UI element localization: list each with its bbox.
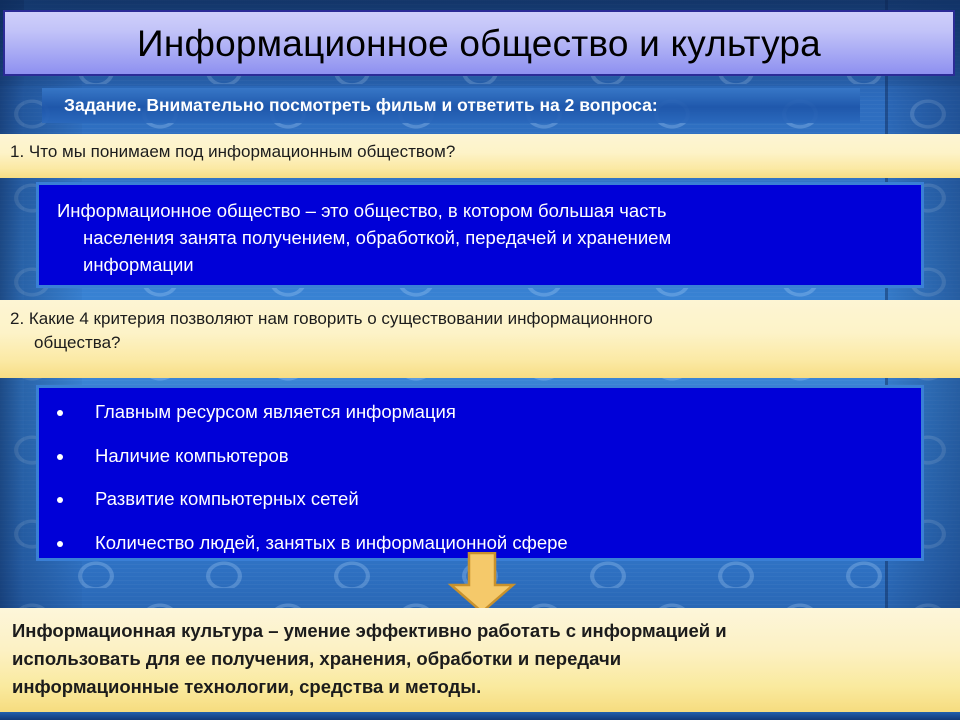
question-2-panel: 2. Какие 4 критерия позволяют нам говори… [0,300,960,378]
question-1-panel: 1. Что мы понимаем под информационным об… [0,134,960,178]
conclusion-panel: Информационная культура – умение эффекти… [0,608,960,712]
conclusion-text: Информационная культура – умение эффекти… [0,608,960,701]
criteria-list: Главным ресурсом является информация Нал… [39,388,921,552]
answer-1-line-2: населения занята получением, обработкой,… [57,224,905,251]
list-item: Наличие компьютеров [39,447,921,466]
question-2-line-1: 2. Какие 4 критерия позволяют нам говори… [10,307,950,331]
question-2-line-2: общества? [10,331,950,355]
answer-1-line-3: информации [57,251,905,278]
slide-title-box: Информационное общество и культура [3,10,955,76]
task-instruction-bar: Задание. Внимательно посмотреть фильм и … [42,88,860,123]
list-item: Количество людей, занятых в информационн… [39,534,921,553]
down-arrow-icon [447,552,517,614]
task-instruction-text: Задание. Внимательно посмотреть фильм и … [64,95,658,116]
conclusion-line-2: использовать для ее получения, хранения,… [12,645,948,673]
presentation-slide: Информационное общество и культура Задан… [0,0,960,720]
conclusion-line-3: информационные технологии, средства и ме… [12,673,948,701]
list-item: Главным ресурсом является информация [39,403,921,422]
answer-1-panel: Информационное общество – это общество, … [36,182,924,288]
answer-1-text: Информационное общество – это общество, … [39,185,921,278]
answer-1-line-1: Информационное общество – это общество, … [57,197,905,224]
conclusion-line-1: Информационная культура – умение эффекти… [12,617,948,645]
answer-2-panel: Главным ресурсом является информация Нал… [36,385,924,561]
question-2-text: 2. Какие 4 критерия позволяют нам говори… [0,300,960,359]
list-item: Развитие компьютерных сетей [39,490,921,509]
page-title: Информационное общество и культура [137,25,821,62]
question-1-text: 1. Что мы понимаем под информационным об… [0,134,960,168]
